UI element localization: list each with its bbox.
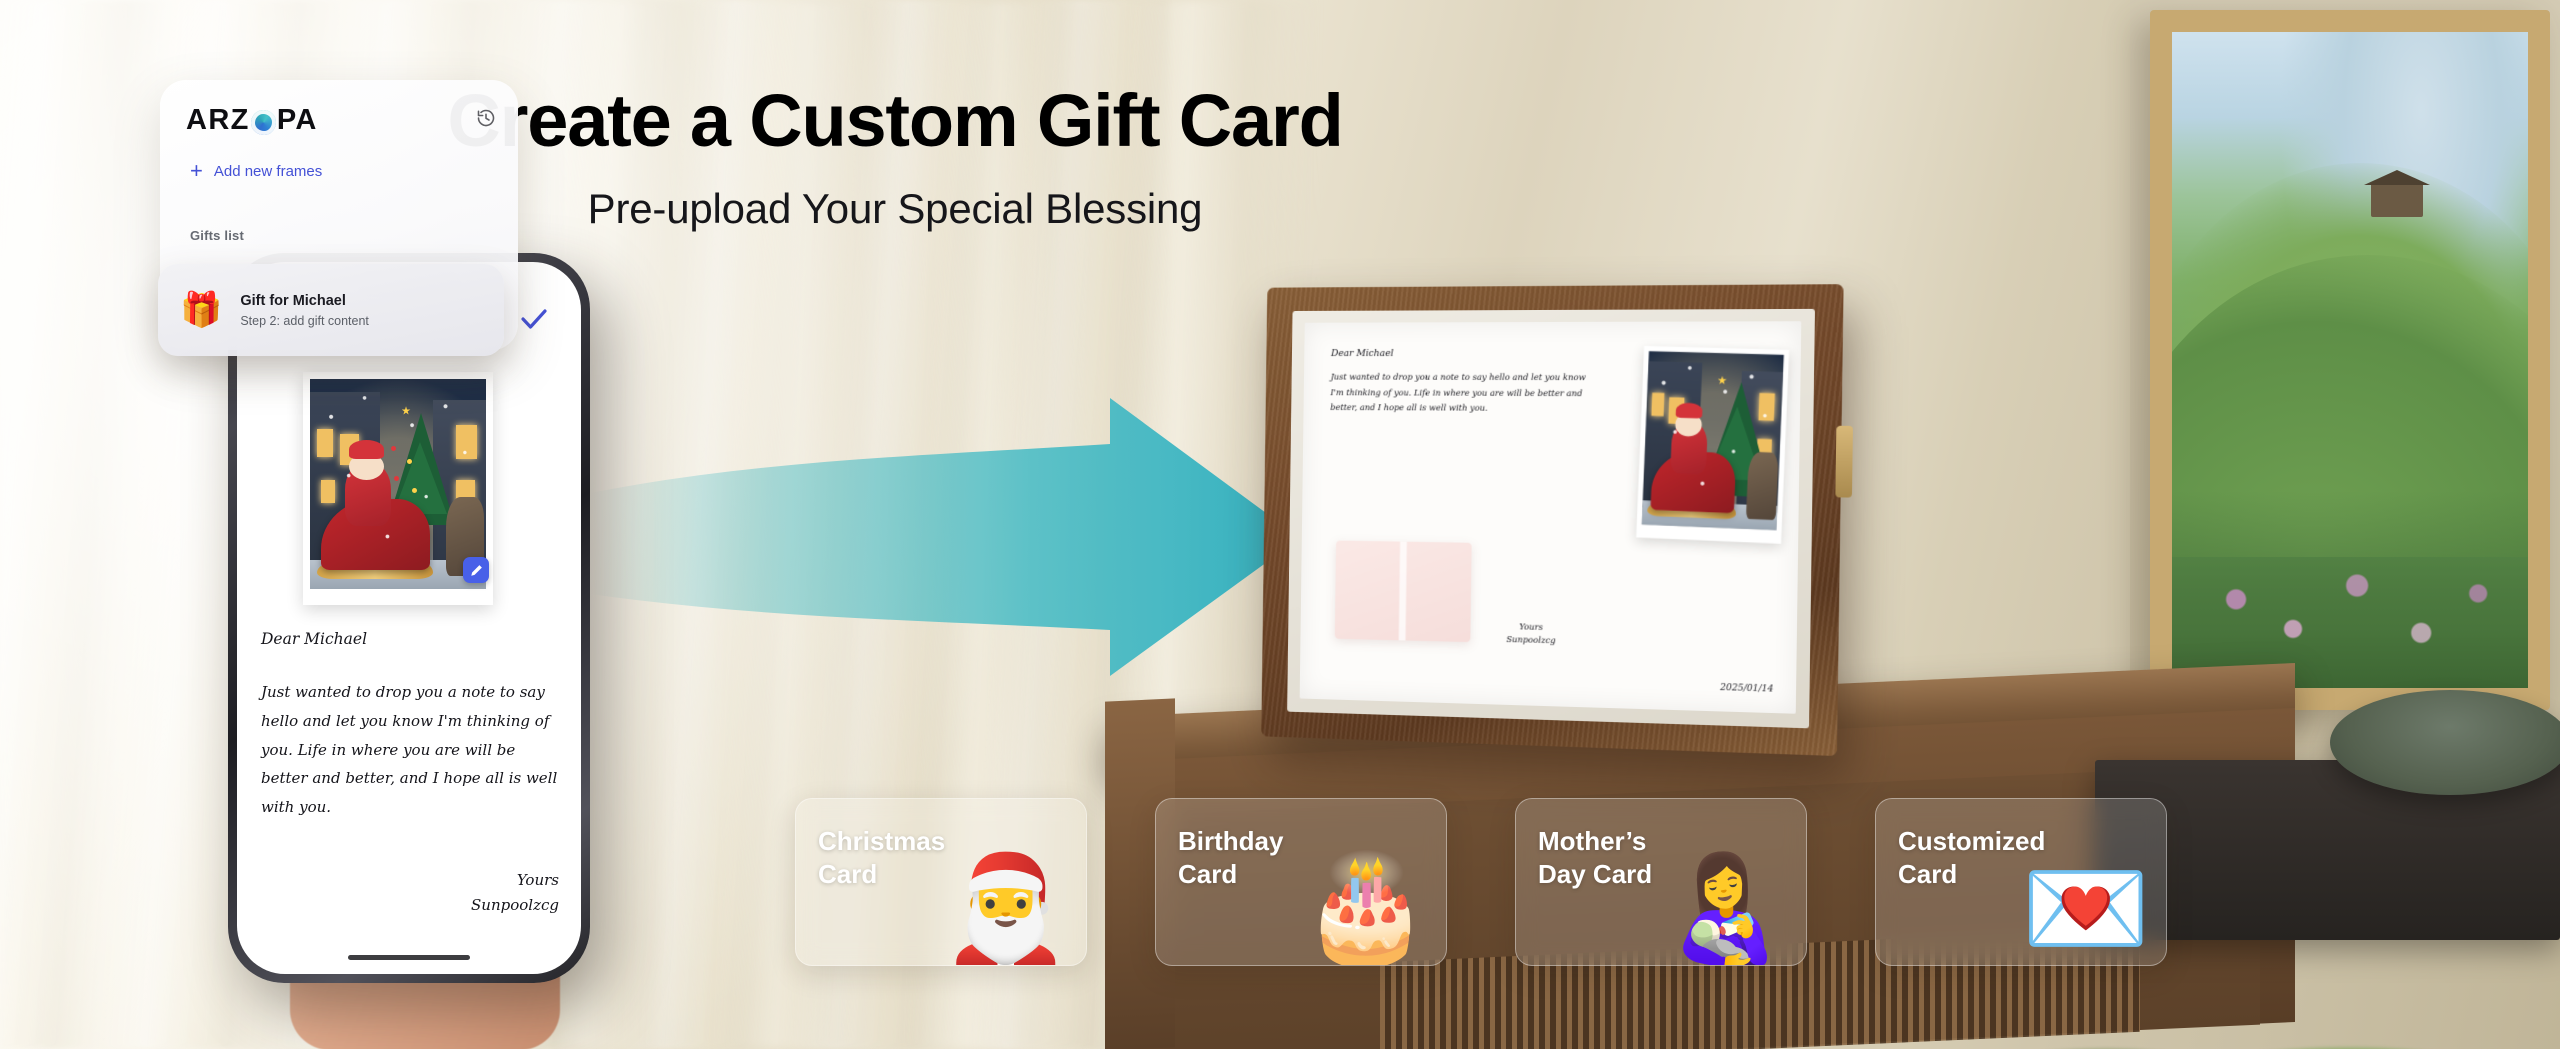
- gift-item-title: Gift for Michael: [240, 293, 369, 309]
- frame-display-screen[interactable]: Dear Michael Just wanted to drop you a n…: [1300, 321, 1802, 714]
- frame-signature: Sunpoolzcg: [1445, 633, 1618, 651]
- card-christmas[interactable]: Christmas Card 🎅: [795, 798, 1087, 966]
- card-label: Birthday Card: [1178, 825, 1283, 892]
- card-label: Mother’s Day Card: [1538, 825, 1652, 892]
- scene-root: Create a Custom Gift Card Pre-upload You…: [0, 0, 2560, 1049]
- mother-and-baby-icon: 👩‍🍼: [1656, 811, 1796, 961]
- frame-signature-block: Yours Sunpoolzcg: [1445, 620, 1619, 651]
- love-letter-icon: 💌: [2016, 811, 2156, 961]
- flow-arrow: [590, 398, 1300, 698]
- frame-letter-greeting: Dear Michael: [1331, 348, 1595, 359]
- christmas-santa-sleigh-photo: [310, 379, 486, 589]
- digital-photo-frame: Dear Michael Just wanted to drop you a n…: [1261, 284, 1843, 756]
- gift-list-item[interactable]: 🎁 Gift for Michael Step 2: add gift cont…: [158, 264, 504, 356]
- frame-letter-body: Just wanted to drop you a note to say he…: [1330, 371, 1595, 419]
- brand-text-suffix: PA: [277, 104, 318, 137]
- card-mothers-day[interactable]: Mother’s Day Card 👩‍🍼: [1515, 798, 1807, 966]
- card-category-list: Christmas Card 🎅 Birthday Card 🎂 Mother’…: [795, 798, 2167, 966]
- card-label: Christmas Card: [818, 825, 945, 892]
- letter-signature-block: Yours Sunpoolzcg: [261, 868, 559, 918]
- app-header: ARZ PA: [186, 104, 496, 137]
- letter-body: Just wanted to drop you a note to say he…: [261, 678, 559, 822]
- wall-art-frame: [2150, 10, 2550, 710]
- frame-letter: Dear Michael Just wanted to drop you a n…: [1330, 348, 1595, 418]
- gifts-list-heading: Gifts list: [190, 228, 244, 243]
- art-cabin-icon: [2371, 183, 2423, 217]
- gift-item-subtitle: Step 2: add gift content: [240, 314, 369, 328]
- frame-date-stamp: 2025/01/14: [1720, 683, 1773, 695]
- wall-art-image: [2172, 32, 2528, 688]
- smartphone: Dear Michael Just wanted to drop you a n…: [228, 253, 590, 983]
- letter-greeting: Dear Michael: [261, 630, 559, 648]
- letter-signature: Sunpoolzcg: [261, 893, 559, 918]
- card-birthday[interactable]: Birthday Card 🎂: [1155, 798, 1447, 966]
- arzopa-logo: ARZ PA: [186, 104, 318, 137]
- birthday-cake-icon: 🎂: [1296, 811, 1436, 961]
- plus-icon: +: [190, 160, 203, 182]
- card-customized[interactable]: Customized Card 💌: [1875, 798, 2167, 966]
- decorative-bowl: [2330, 690, 2560, 795]
- arzopa-o-logo-icon: [251, 110, 276, 135]
- phone-letter: Dear Michael Just wanted to drop you a n…: [261, 630, 559, 917]
- letter-signoff: Yours: [261, 868, 559, 893]
- gift-item-meta: Gift for Michael Step 2: add gift conten…: [240, 293, 369, 328]
- add-new-frames-label: Add new frames: [214, 163, 322, 180]
- santa-claus-icon: 🎅: [936, 811, 1076, 961]
- pencil-edit-icon[interactable]: [463, 557, 489, 583]
- gift-photo-card[interactable]: [303, 372, 493, 605]
- history-clock-icon[interactable]: [476, 108, 496, 133]
- gift-box-icon: 🎁: [180, 293, 222, 327]
- add-new-frames-button[interactable]: + Add new frames: [190, 160, 322, 182]
- phone-screen[interactable]: Dear Michael Just wanted to drop you a n…: [237, 262, 581, 974]
- christmas-santa-sleigh-photo: [1642, 351, 1784, 530]
- frame-photo-card: [1636, 346, 1789, 544]
- art-flower-field: [2172, 491, 2528, 688]
- checkmark-icon[interactable]: [521, 308, 547, 335]
- app-panel: ARZ PA + Add new frames Gifts list 🎁 Gif…: [160, 80, 518, 350]
- home-bar: [348, 955, 470, 960]
- brand-text-prefix: ARZ: [186, 104, 250, 137]
